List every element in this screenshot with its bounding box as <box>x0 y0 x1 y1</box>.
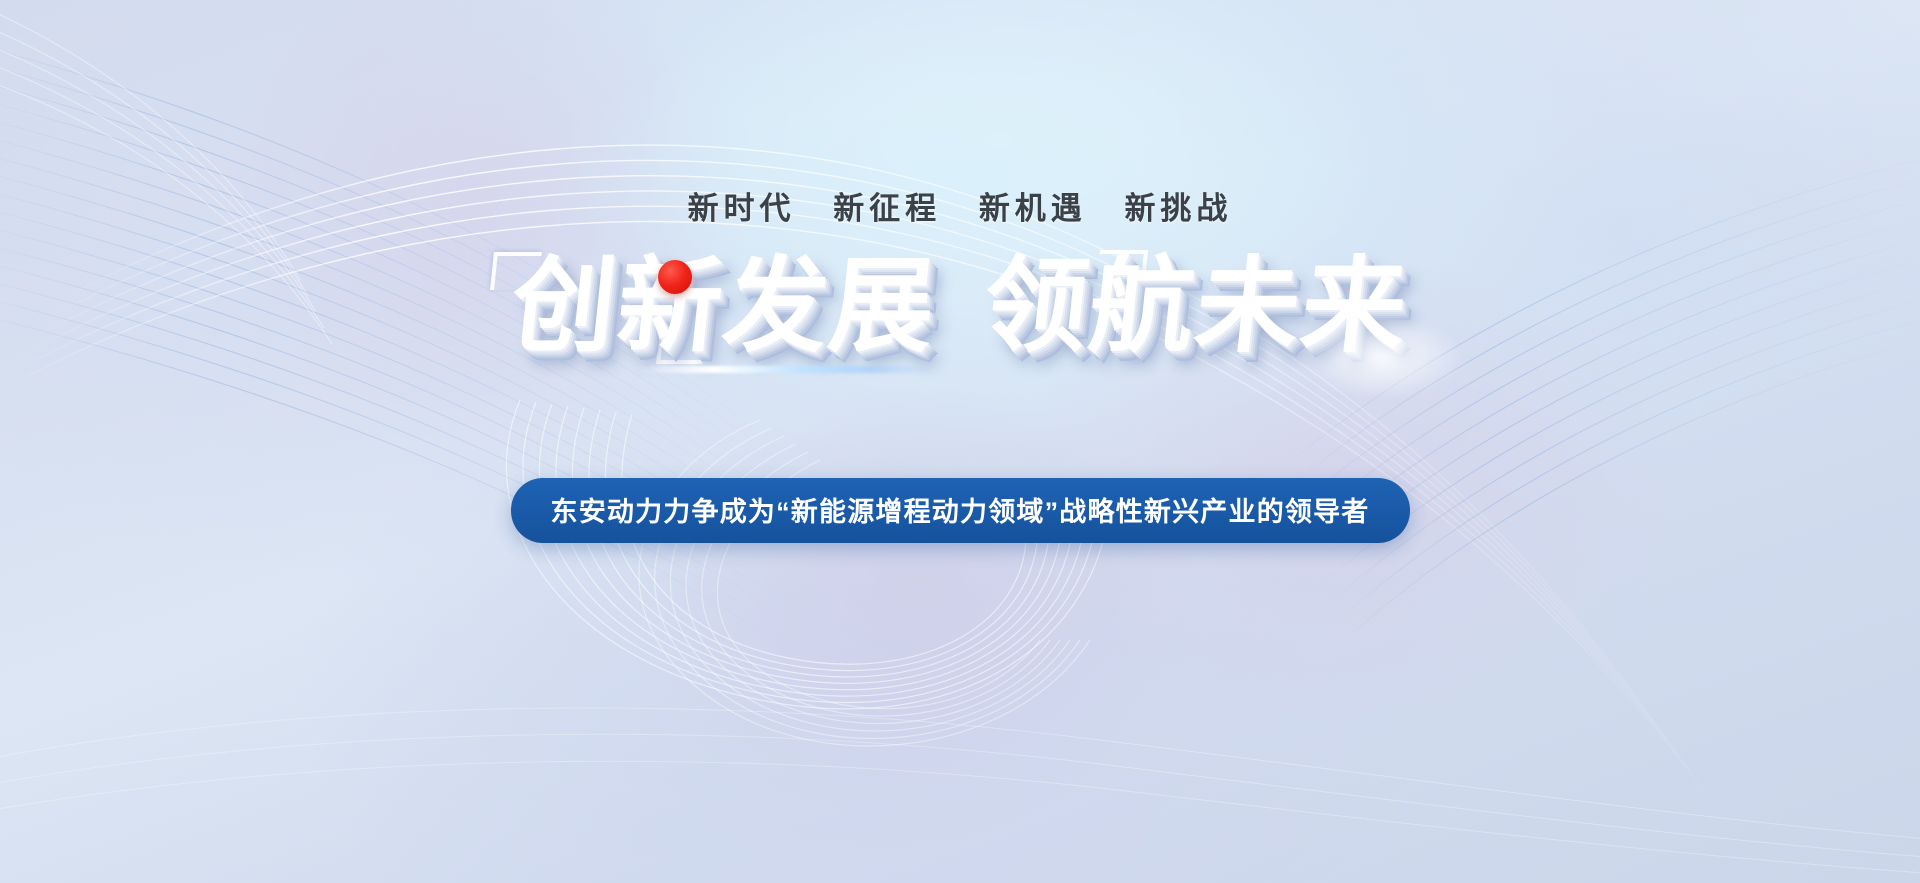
headline-wrapper: 创新发展 领航未来 <box>0 236 1920 376</box>
banner-content: 新时代 新征程 新机遇 新挑战 创新发展 领航未来 东安动力力争成为“新能源增程… <box>0 0 1920 883</box>
headline-text-left: 创新发展 <box>507 254 942 358</box>
glow-decoration <box>1298 312 1468 402</box>
pill-wrapper: 东安动力力争成为“新能源增程动力领域”战略性新兴产业的领导者 <box>0 478 1920 543</box>
tagline-part-2: 新征程 <box>833 191 941 226</box>
banner-headline: 创新发展 领航未来 <box>486 254 1434 358</box>
tagline-part-4: 新挑战 <box>1124 191 1232 226</box>
red-dot-accent-icon <box>658 260 692 294</box>
light-streak-decoration <box>636 366 936 373</box>
mission-statement-pill: 东安动力力争成为“新能源增程动力领域”战略性新兴产业的领导者 <box>511 478 1410 543</box>
tagline-part-1: 新时代 <box>688 191 796 226</box>
tagline-part-3: 新机遇 <box>979 191 1087 226</box>
promo-banner: 新时代 新征程 新机遇 新挑战 创新发展 领航未来 东安动力力争成为“新能源增程… <box>0 0 1920 883</box>
banner-tagline: 新时代 新征程 新机遇 新挑战 <box>0 183 1920 228</box>
